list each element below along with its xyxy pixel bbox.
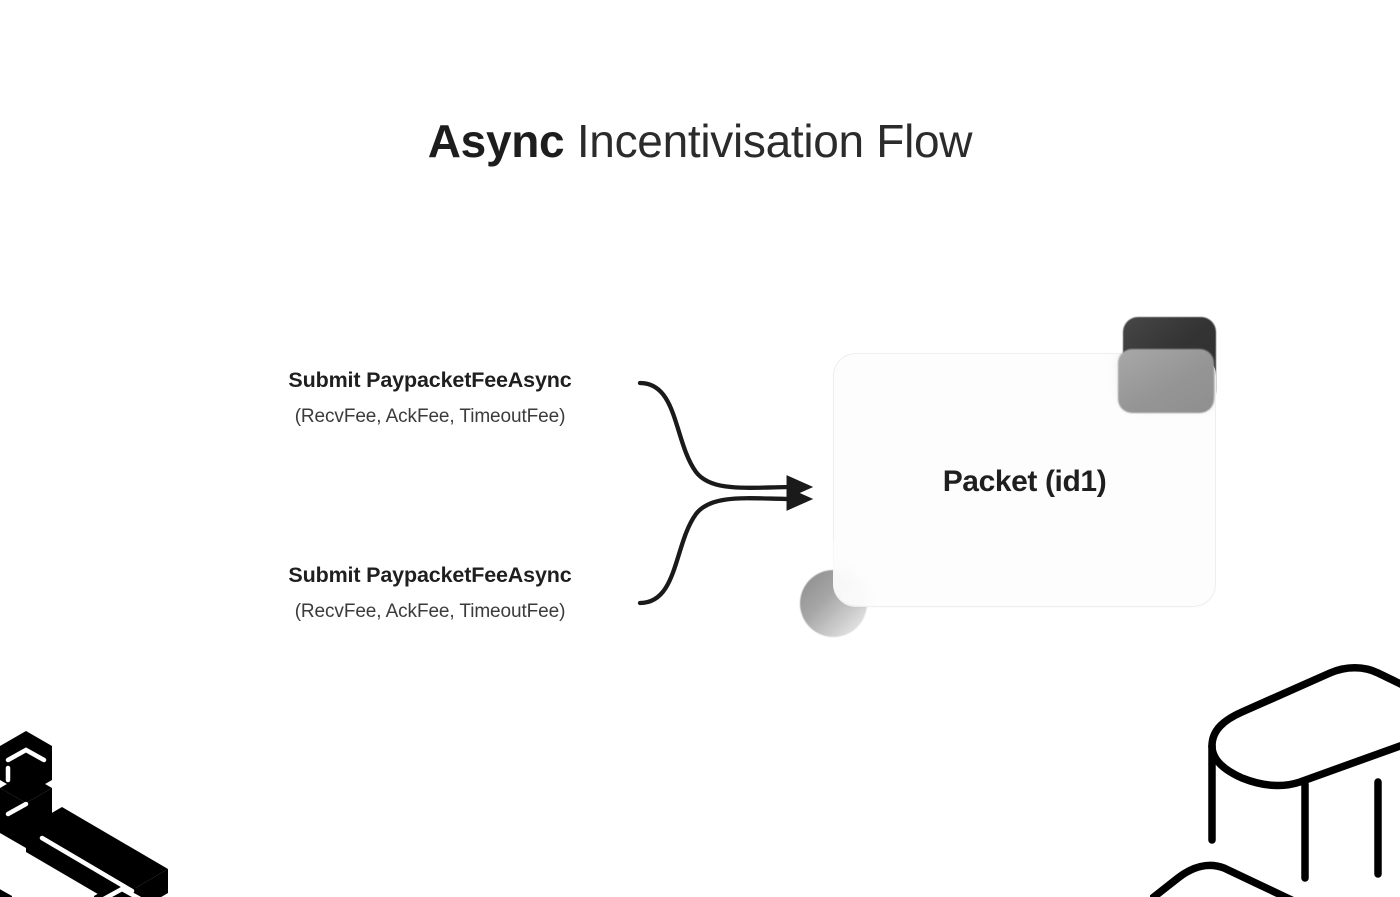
isometric-box-outline-icon — [1150, 664, 1400, 897]
flow-step-1-subtitle: (RecvFee, AckFee, TimeoutFee) — [220, 404, 640, 430]
arrow-step-1 — [640, 383, 796, 488]
page-title-rest: Incentivisation Flow — [564, 115, 972, 167]
flow-step-1: Submit PaypacketFeeAsync (RecvFee, AckFe… — [220, 366, 640, 430]
page-title-strong: Async — [428, 115, 565, 167]
arrow-step-2 — [640, 498, 796, 603]
slide-canvas: Async Incentivisation Flow Submit Paypac… — [0, 0, 1400, 897]
flow-step-2: Submit PaypacketFeeAsync (RecvFee, AckFe… — [220, 561, 640, 625]
flow-step-2-title: Submit PaypacketFeeAsync — [220, 561, 640, 589]
packet-card-label: Packet (id1) — [834, 465, 1215, 499]
decorative-square-light — [1118, 349, 1214, 413]
page-title: Async Incentivisation Flow — [0, 108, 1400, 174]
flow-step-1-title: Submit PaypacketFeeAsync — [220, 366, 640, 394]
flow-step-2-subtitle: (RecvFee, AckFee, TimeoutFee) — [220, 599, 640, 625]
isometric-blocks-icon — [0, 718, 182, 897]
